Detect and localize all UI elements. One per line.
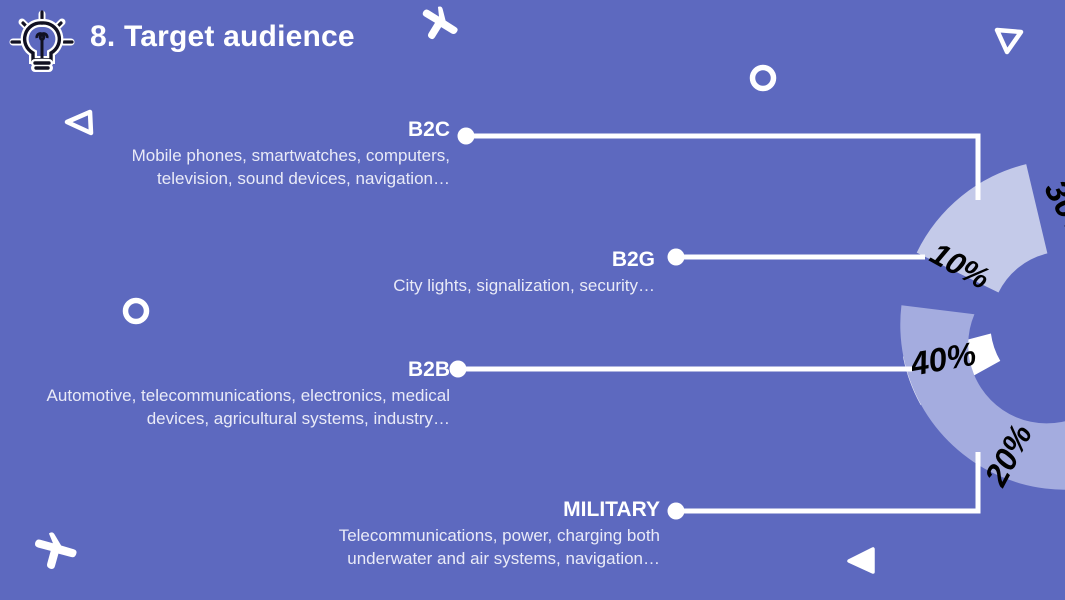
sparkle-star-top-icon — [415, 4, 459, 52]
connector-dot-b2b — [450, 361, 467, 378]
callout-description-b2g: City lights, signalization, security… — [280, 275, 655, 298]
callout-b2b: B2B Automotive, telecommunications, elec… — [40, 358, 450, 430]
sparkle-star-bottom-icon — [30, 529, 78, 581]
callout-description-military: Telecommunications, power, charging both… — [250, 525, 660, 570]
connector-dot-military — [668, 503, 685, 520]
callout-title-military: MILITARY — [250, 498, 660, 521]
connector-dot-b2g — [668, 249, 685, 266]
callout-b2g: B2G City lights, signalization, security… — [280, 248, 655, 298]
slide-canvas: 30% 10% 40% 20% — [0, 0, 1065, 600]
circle-outline-top-icon — [747, 62, 779, 94]
lightbulb-icon — [8, 8, 76, 76]
callout-description-b2b: Automotive, telecommunications, electron… — [40, 385, 450, 430]
triangle-down-outline-icon — [992, 25, 1026, 57]
triangle-left-solid-bottom-icon — [845, 545, 879, 577]
callout-title-b2b: B2B — [40, 358, 450, 381]
circle-outline-left-icon — [120, 295, 152, 327]
connector-dot-b2c — [458, 128, 475, 145]
callout-title-b2c: B2C — [60, 118, 450, 141]
callout-description-b2c: Mobile phones, smartwatches, computers, … — [60, 145, 450, 190]
donut-segment-b2c[interactable] — [917, 140, 1065, 304]
page-title: 8. Target audience — [90, 20, 355, 54]
donut-chart-svg: 30% 10% 40% 20% — [900, 140, 1065, 510]
donut-chart: 30% 10% 40% 20% — [900, 140, 1065, 510]
slide-header: 8. Target audience — [0, 0, 480, 86]
callout-military: MILITARY Telecommunications, power, char… — [250, 498, 660, 570]
callout-b2c: B2C Mobile phones, smartwatches, compute… — [60, 118, 450, 190]
callout-title-b2g: B2G — [280, 248, 655, 271]
